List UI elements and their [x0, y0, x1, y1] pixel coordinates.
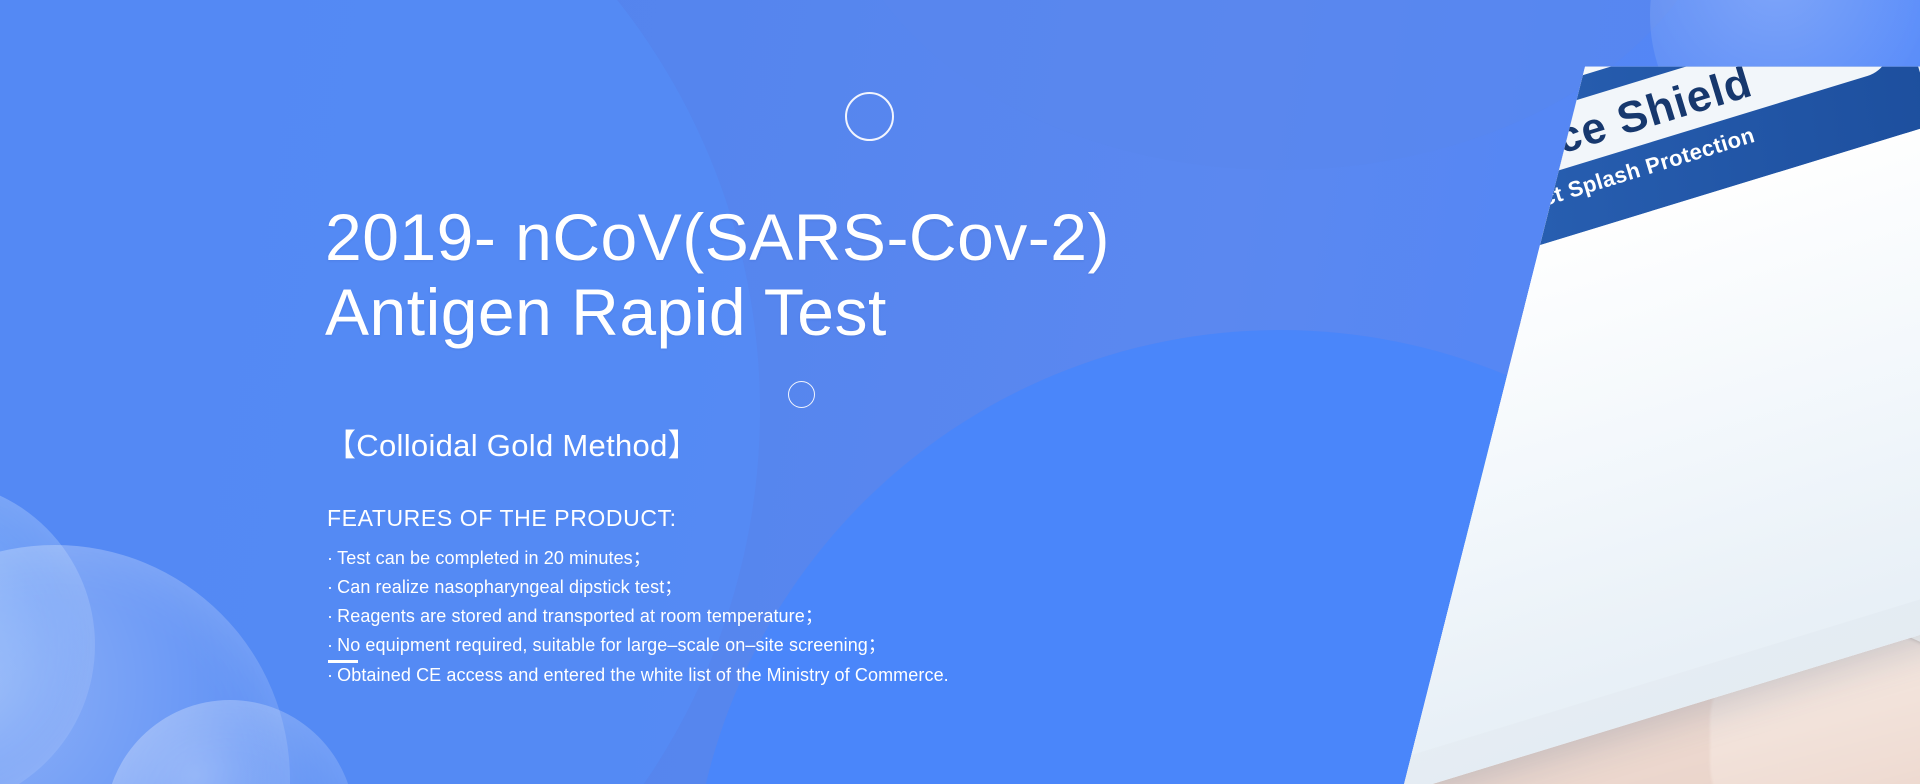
features-list: Test can be completed in 20 minutes； Can… [327, 544, 949, 690]
list-item: Test can be completed in 20 minutes； [327, 544, 949, 573]
soft-bubble-c [105, 700, 355, 784]
face-shield-package: NOTICE: not for use against liquids or d… [1150, 0, 1920, 784]
banner-text-content: 2019- nCoV(SARS-Cov-2) Antigen Rapid Tes… [325, 0, 1225, 784]
soft-bubble-b [0, 480, 95, 784]
page-title: 2019- nCoV(SARS-Cov-2) Antigen Rapid Tes… [325, 200, 1110, 350]
hero-photo: NOTICE: not for use against liquids or d… [1150, 0, 1920, 784]
banner-subtitle: 【Colloidal Gold Method】 [325, 420, 699, 465]
list-item: No equipment required, suitable for larg… [327, 631, 949, 660]
list-item: Obtained CE access and entered the white… [327, 661, 949, 690]
product-banner: NOTICE: not for use against liquids or d… [0, 0, 1920, 784]
list-item: Reagents are stored and transported at r… [327, 602, 949, 631]
divider-rule [328, 660, 358, 663]
list-item: Can realize nasopharyngeal dipstick test… [327, 573, 949, 602]
features-heading: FEATURES OF THE PRODUCT: [327, 505, 677, 532]
photo-background: NOTICE: not for use against liquids or d… [1150, 0, 1920, 784]
soft-bubble-a [0, 545, 290, 784]
